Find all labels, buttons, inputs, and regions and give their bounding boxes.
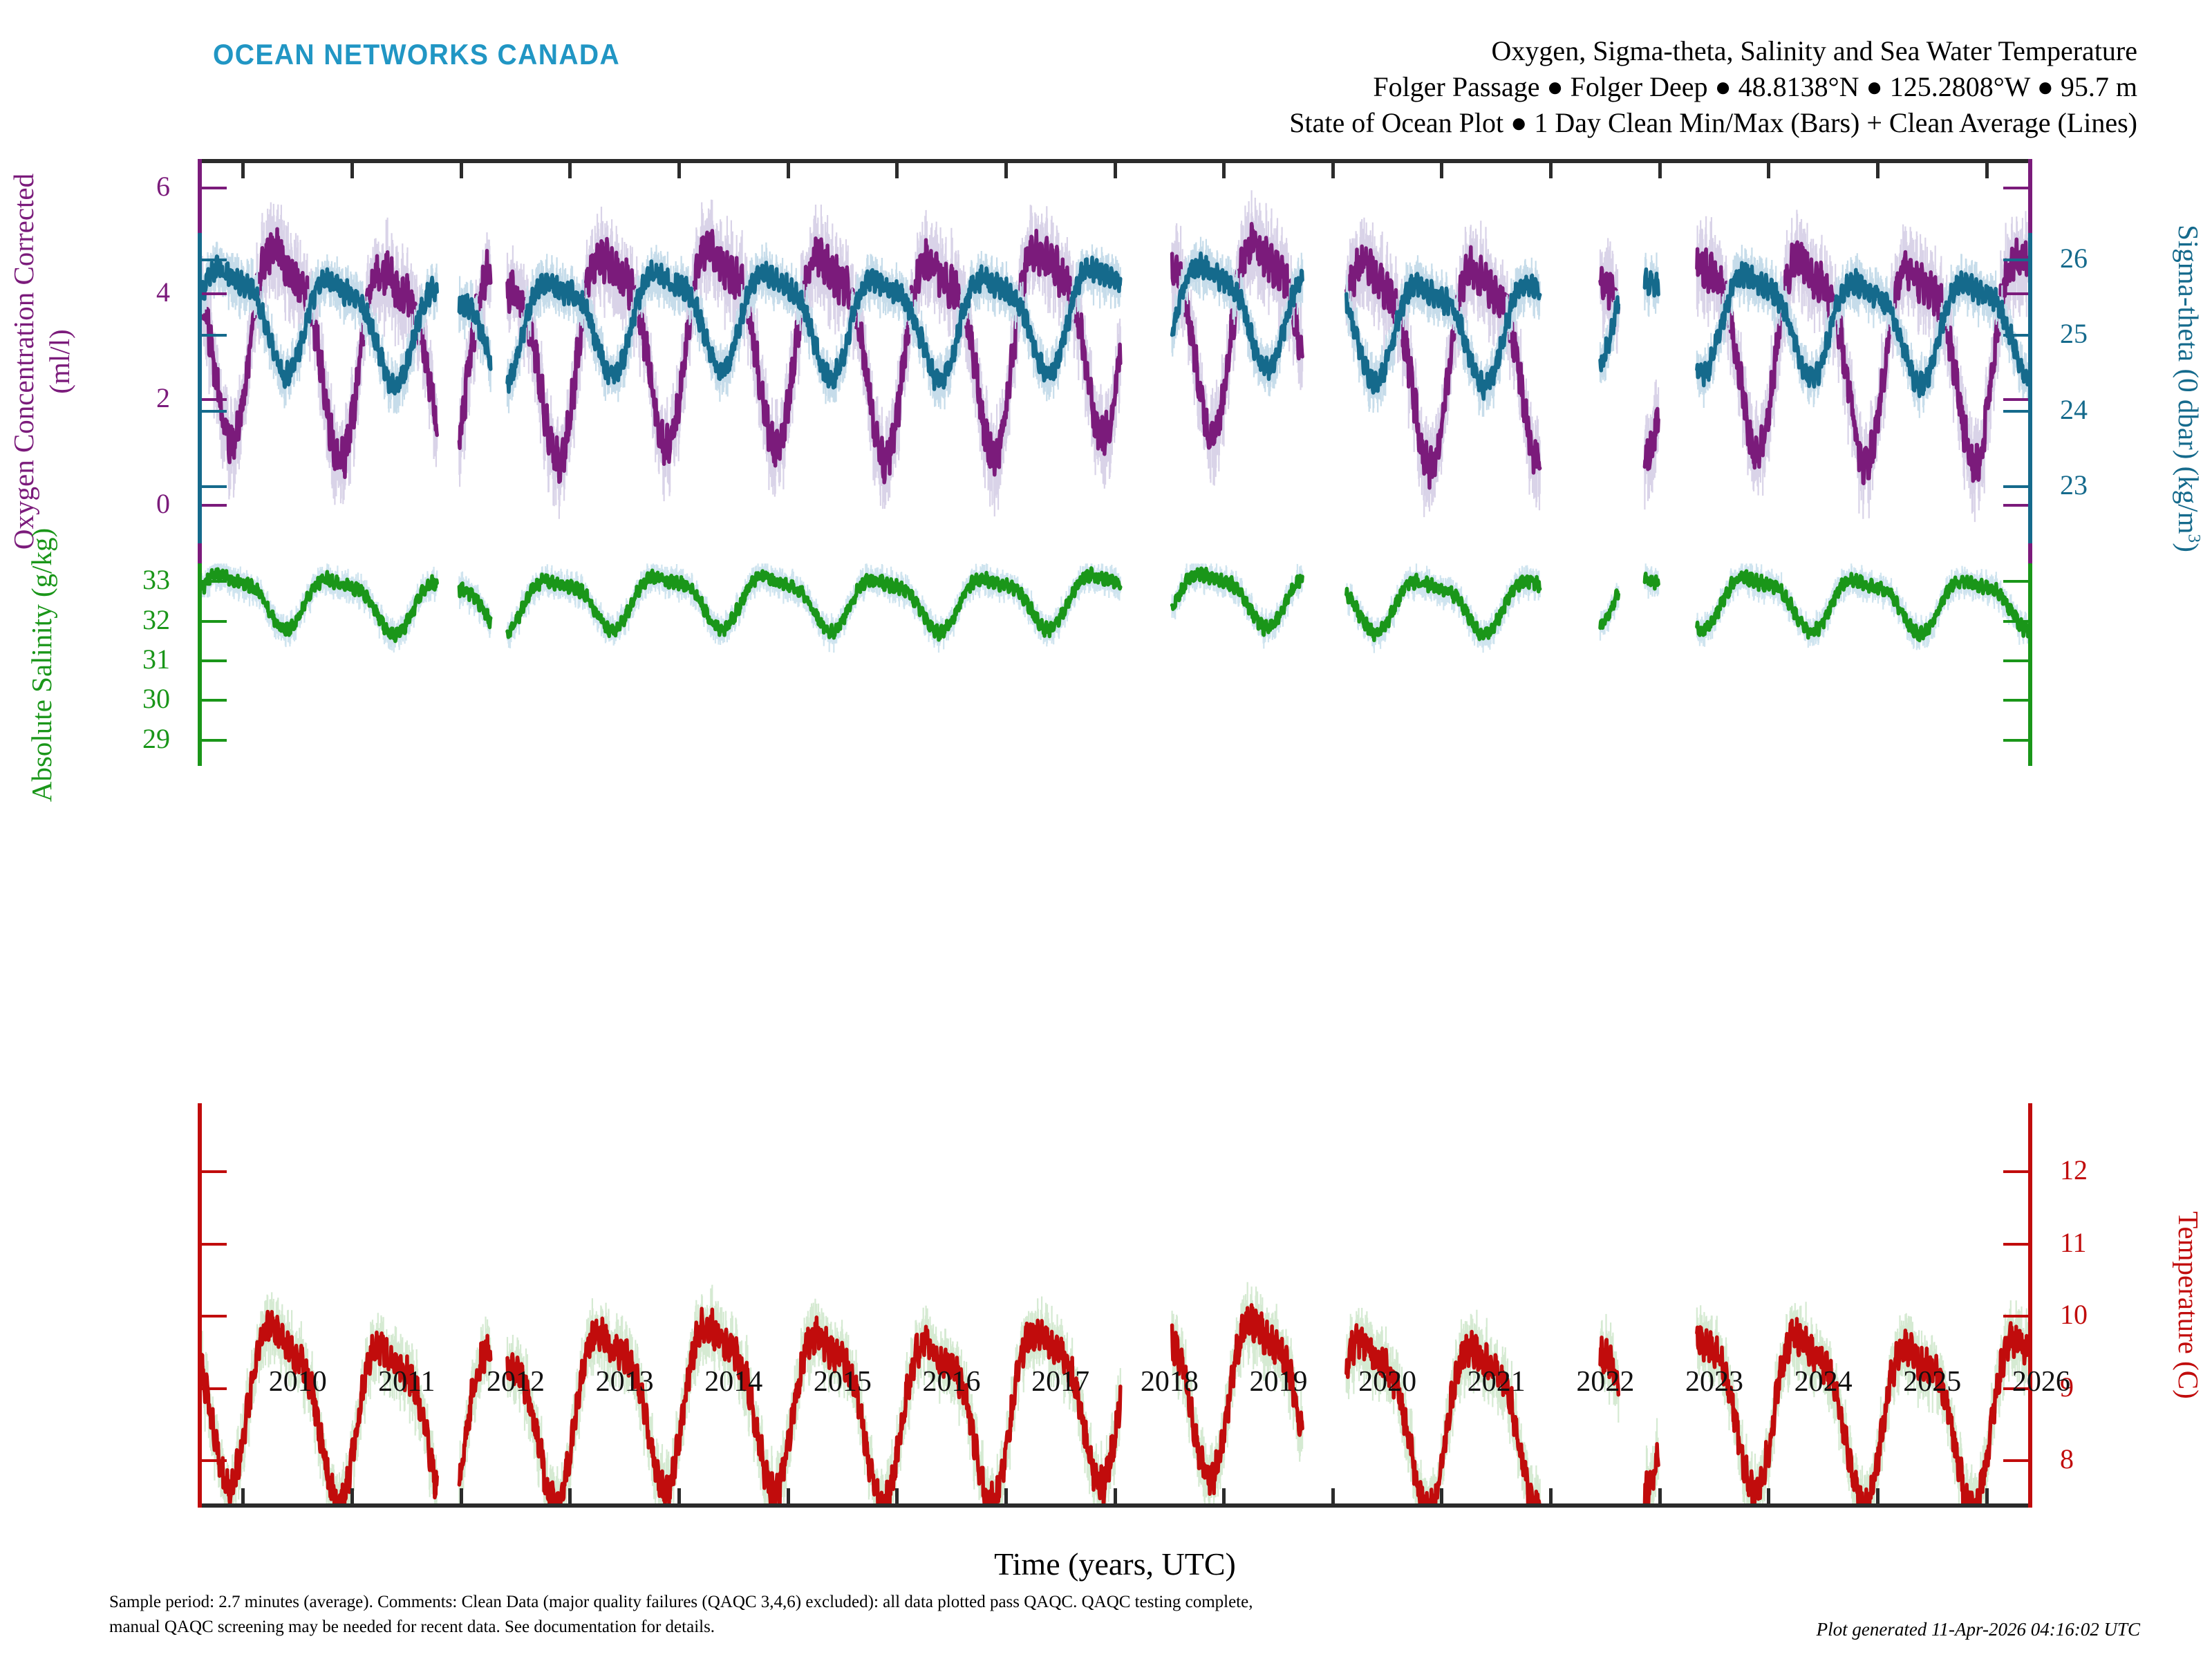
temperature-tick-label-10: 10 (2060, 1301, 2088, 1329)
temperature-tick-11-left (202, 1243, 227, 1246)
series-layer (202, 159, 2028, 1508)
sigma_theta-tick-26-right (2003, 259, 2028, 261)
salinity-tick-label-31: 31 (142, 646, 170, 673)
footnote-line-2: manual QAQC screening may be needed for … (109, 1615, 1720, 1640)
temperature-right-spine (2028, 1103, 2032, 1508)
x-tick-2025-bottom (1876, 1488, 1880, 1508)
temperature-tick-10-left (202, 1315, 227, 1318)
x-axis-label-2018: 2018 (1141, 1365, 1199, 1398)
x-tick-2023-bottom (1658, 1488, 1662, 1508)
oxygen-minmax-bar-path (202, 190, 2028, 522)
x-tick-2012-top (460, 159, 463, 178)
state-of-ocean-plot: 0246Oxygen Concentration Corrected(ml/l)… (202, 159, 2028, 1508)
x-axis-title: Time (years, UTC) (202, 1546, 2028, 1582)
sigma_theta-tick-24-right (2003, 410, 2028, 413)
x-axis-label-2013: 2013 (596, 1365, 654, 1398)
x-tick-2014-bottom (677, 1488, 681, 1508)
x-tick-2026-bottom (1985, 1488, 1989, 1508)
sigma_theta-average-segment (1697, 263, 2028, 396)
temperature-minmax-bar-path (202, 1282, 2028, 1508)
salinity-tick-29-right (2003, 739, 2028, 742)
x-tick-2025-top (1876, 159, 1880, 178)
x-axis-label-2022: 2022 (1576, 1365, 1634, 1398)
sigma_theta-tick-26-left (202, 259, 227, 261)
ocean-networks-canada-logo: OCEAN NETWORKS CANADA (213, 38, 620, 71)
sigma_theta-tick-24-left (202, 410, 227, 413)
temperature-tick-8-left (202, 1459, 227, 1462)
x-tick-2016-top (895, 159, 899, 178)
x-axis-label-2023: 2023 (1685, 1365, 1743, 1398)
oxygen-tick-2-right (2003, 398, 2028, 401)
x-tick-2021-bottom (1440, 1488, 1443, 1508)
salinity-tick-32-right (2003, 620, 2028, 623)
x-axis-label-2014: 2014 (704, 1365, 762, 1398)
x-axis-label-2024: 2024 (1794, 1365, 1853, 1398)
x-axis-label-2010: 2010 (269, 1365, 327, 1398)
oxygen-minmax-bars (202, 190, 2028, 522)
x-tick-2018-top (1114, 159, 1117, 178)
temperature-tick-label-8: 8 (2060, 1445, 2074, 1473)
salinity-tick-31-right (2003, 659, 2028, 662)
temperature-axis-title: Temperature (C) (2172, 1212, 2205, 1399)
temperature-tick-9-left (202, 1387, 227, 1390)
footnote-line-1: Sample period: 2.7 minutes (average). Co… (109, 1590, 1720, 1615)
temperature-average-segment (507, 1309, 1121, 1508)
salinity-tick-30-right (2003, 699, 2028, 702)
sigma_theta-tick-label-25: 25 (2060, 320, 2088, 348)
sigma_theta-tick-label-24: 24 (2060, 396, 2088, 424)
x-tick-2011-bottom (350, 1488, 354, 1508)
x-axis-label-2015: 2015 (814, 1365, 872, 1398)
footnote: Sample period: 2.7 minutes (average). Co… (109, 1590, 1720, 1639)
sigma_theta-tick-25-right (2003, 334, 2028, 337)
x-tick-2015-top (787, 159, 790, 178)
temperature-minmax-bars (202, 1282, 2028, 1508)
x-tick-2017-top (1004, 159, 1008, 178)
x-tick-2022-bottom (1549, 1488, 1553, 1508)
temperature-tick-label-12: 12 (2060, 1156, 2088, 1184)
x-tick-2020-bottom (1331, 1488, 1335, 1508)
x-axis-label-2026: 2026 (2012, 1365, 2070, 1398)
x-tick-2010-bottom (241, 1488, 245, 1508)
salinity-left-spine (198, 563, 202, 766)
oxygen-tick-4-right (2003, 292, 2028, 295)
oxygen-tick-label-6: 6 (156, 173, 170, 200)
x-tick-2023-top (1658, 159, 1662, 178)
salinity-tick-31-left (202, 659, 227, 662)
sigma_theta-tick-23-left (202, 485, 227, 488)
x-tick-2015-bottom (787, 1488, 790, 1508)
oxygen-tick-label-0: 0 (156, 490, 170, 518)
oxygen-tick-6-left (202, 187, 227, 189)
x-tick-2012-bottom (460, 1488, 463, 1508)
oxygen-tick-label-2: 2 (156, 384, 170, 412)
x-axis-label-2012: 2012 (487, 1365, 545, 1398)
oxygen-tick-2-left (202, 398, 227, 401)
x-tick-2020-top (1331, 159, 1335, 178)
chart-title-line-3: State of Ocean Plot ● 1 Day Clean Min/Ma… (1289, 105, 2137, 141)
x-axis-label-2017: 2017 (1031, 1365, 1089, 1398)
oxygen-tick-0-left (202, 504, 227, 507)
salinity-axis-title: Absolute Salinity (g/kg) (25, 527, 58, 801)
sigma_theta-tick-23-right (2003, 485, 2028, 488)
x-axis-label-2020: 2020 (1358, 1365, 1416, 1398)
salinity-average-segment (202, 569, 437, 641)
sigma_theta-tick-25-left (202, 334, 227, 337)
temperature-left-spine (198, 1103, 202, 1508)
x-tick-2013-bottom (568, 1488, 572, 1508)
salinity-tick-32-left (202, 620, 227, 623)
x-tick-2016-bottom (895, 1488, 899, 1508)
x-tick-2024-top (1767, 159, 1770, 178)
x-axis-label-2025: 2025 (1903, 1365, 1961, 1398)
x-tick-2022-top (1549, 159, 1553, 178)
x-tick-2010-top (241, 159, 245, 178)
oxygen-tick-4-left (202, 292, 227, 295)
salinity-tick-label-29: 29 (142, 725, 170, 753)
temperature-tick-8-right (2003, 1459, 2028, 1462)
salinity-tick-label-32: 32 (142, 606, 170, 634)
sigma_theta-tick-label-26: 26 (2060, 245, 2088, 272)
salinity-average-segment (1697, 571, 2028, 640)
salinity-tick-30-left (202, 699, 227, 702)
temperature-tick-12-left (202, 1170, 227, 1173)
oxygen-tick-0-right (2003, 504, 2028, 507)
x-tick-2024-bottom (1767, 1488, 1770, 1508)
chart-title-line-2: Folger Passage ● Folger Deep ● 48.8138°N… (1289, 69, 2137, 105)
sigma_theta-right-spine (2028, 233, 2032, 543)
x-tick-2026-top (1985, 159, 1989, 178)
sigma_theta-tick-label-23: 23 (2060, 471, 2088, 499)
x-tick-2017-bottom (1004, 1488, 1008, 1508)
temperature-tick-10-right (2003, 1315, 2028, 1318)
x-tick-2021-top (1440, 159, 1443, 178)
x-tick-2013-top (568, 159, 572, 178)
chart-title-block: Oxygen, Sigma-theta, Salinity and Sea Wa… (1289, 33, 2137, 141)
x-axis-label-2011: 2011 (378, 1365, 435, 1398)
x-tick-2018-bottom (1114, 1488, 1117, 1508)
oxygen-tick-label-4: 4 (156, 279, 170, 306)
sigma_theta-left-spine (198, 233, 202, 543)
salinity-right-spine (2028, 563, 2032, 766)
chart-title-line-1: Oxygen, Sigma-theta, Salinity and Sea Wa… (1289, 33, 2137, 69)
x-axis-label-2016: 2016 (923, 1365, 981, 1398)
salinity-tick-33-left (202, 580, 227, 583)
x-tick-2011-top (350, 159, 354, 178)
salinity-tick-label-33: 33 (142, 566, 170, 594)
oxygen-axis-title: Oxygen Concentration Corrected(ml/l) (6, 174, 77, 550)
x-axis-label-2021: 2021 (1468, 1365, 1526, 1398)
x-tick-2014-top (677, 159, 681, 178)
salinity-tick-29-left (202, 739, 227, 742)
temperature-tick-label-11: 11 (2060, 1229, 2087, 1257)
plot-generated-stamp: Plot generated 11-Apr-2026 04:16:02 UTC (1817, 1619, 2140, 1640)
x-tick-2019-top (1222, 159, 1226, 178)
temperature-tick-11-right (2003, 1243, 2028, 1246)
sigma_theta-axis-title: Sigma-theta (0 dbar) (kg/m3) (2172, 225, 2205, 552)
x-tick-2019-bottom (1222, 1488, 1226, 1508)
salinity-tick-33-right (2003, 580, 2028, 583)
temperature-tick-12-right (2003, 1170, 2028, 1173)
x-axis-label-2019: 2019 (1249, 1365, 1307, 1398)
oxygen-tick-6-right (2003, 187, 2028, 189)
salinity-tick-label-30: 30 (142, 685, 170, 713)
